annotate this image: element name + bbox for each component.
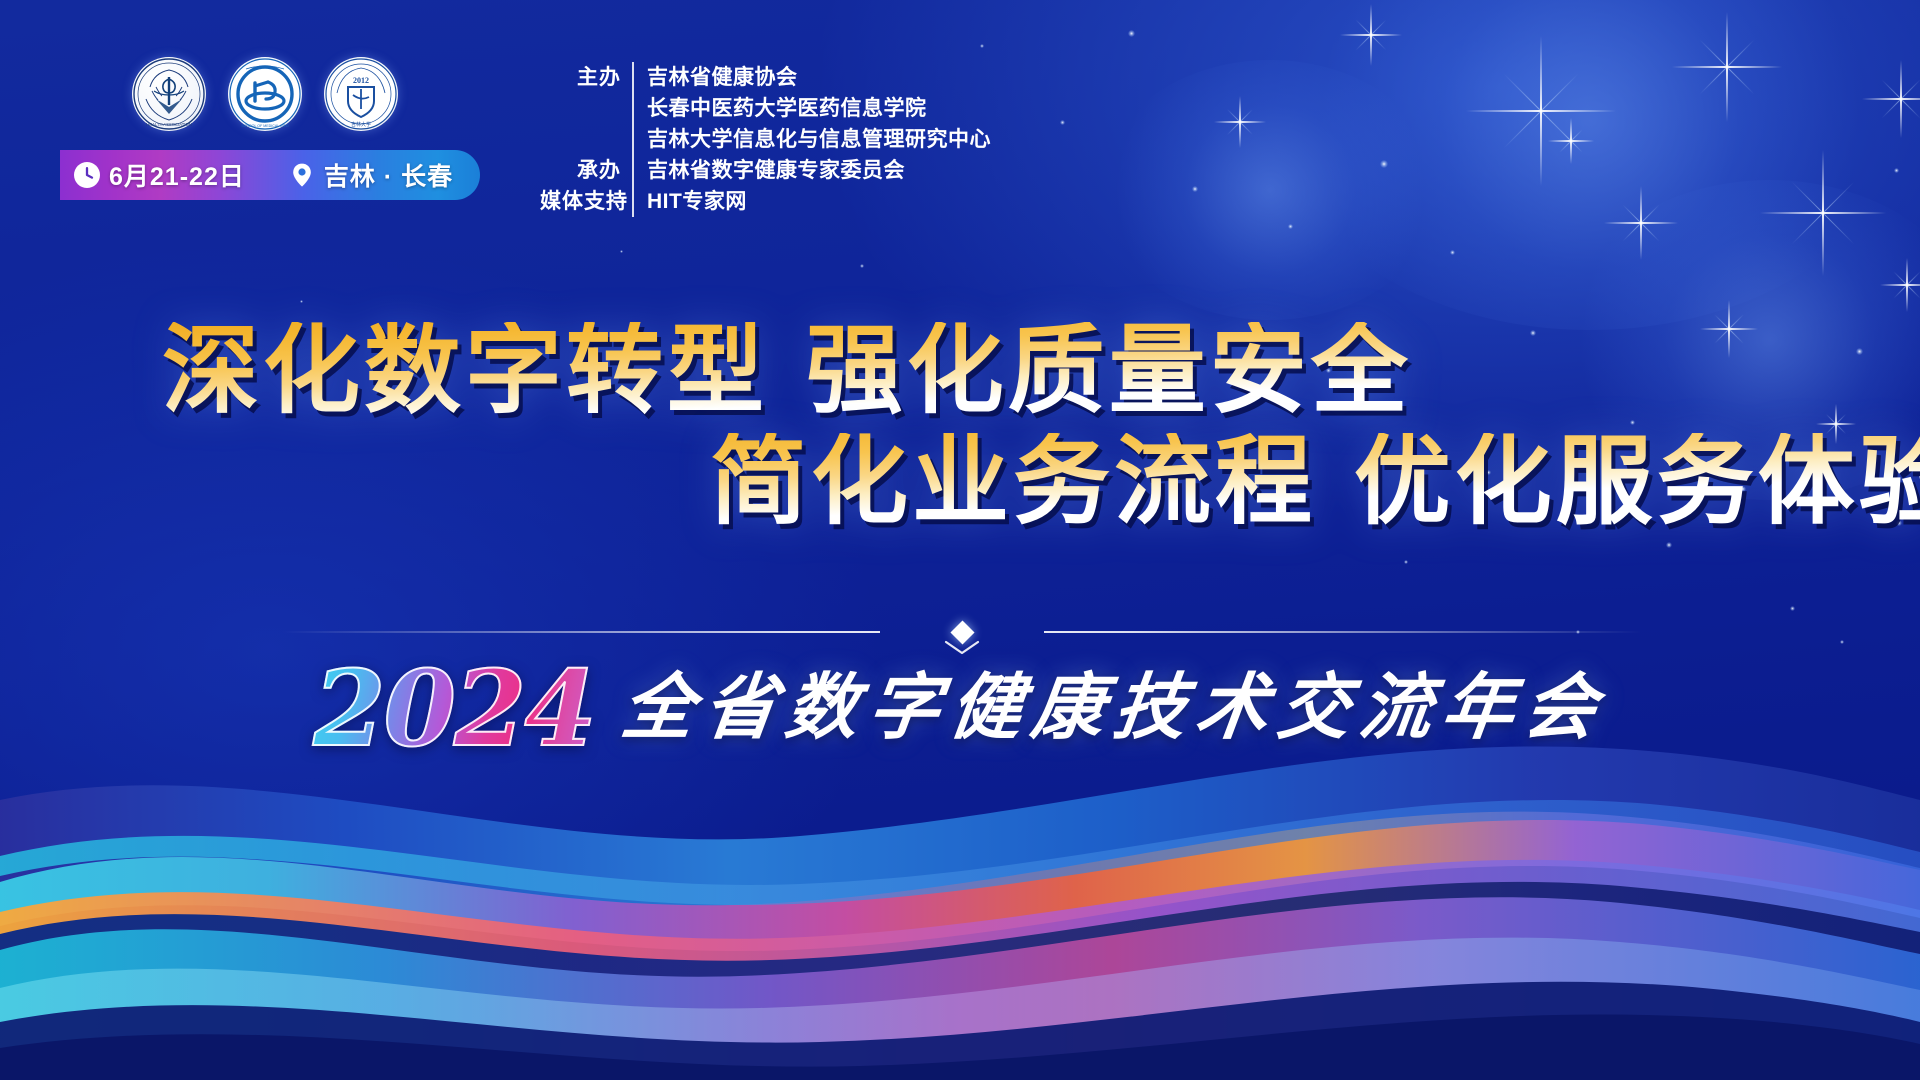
- sparkle-icon: [1604, 186, 1678, 260]
- organizer-values-media: HIT专家网: [632, 186, 747, 217]
- location-text: 吉林 · 长春: [324, 157, 453, 193]
- decorative-divider: [282, 618, 1642, 646]
- organizer-row-host: 主办 吉林省健康协会 长春中医药大学医药信息学院 吉林大学信息化与信息管理研究中…: [540, 62, 991, 155]
- sparkle-icon: [1340, 4, 1402, 66]
- sparkle-icon: [1672, 12, 1782, 122]
- organizer-row-media: 媒体支持 HIT专家网: [540, 186, 991, 217]
- date-location-pill: 6月21-22日 吉林 · 长春: [60, 150, 480, 200]
- changchun-university-cm-medical-information-emblem: SCHOOL OF MEDICAL INFO: [228, 57, 302, 131]
- date-segment: 6月21-22日: [74, 157, 245, 193]
- sparkle-icon: [1548, 118, 1594, 164]
- svg-text:2012: 2012: [353, 76, 369, 85]
- organizer-name: 长春中医药大学医药信息学院: [647, 93, 991, 124]
- sparkle-icon: [1862, 60, 1920, 138]
- svg-text:SCHOOL OF MEDICAL INFO: SCHOOL OF MEDICAL INFO: [241, 124, 289, 128]
- sparkle-icon: [1760, 150, 1886, 276]
- sparkle-icon: [1880, 258, 1920, 312]
- organizer-name: 吉林省数字健康专家委员会: [647, 155, 905, 186]
- organizer-name: HIT专家网: [647, 186, 747, 217]
- headline-line-1: 深化数字转型 强化质量安全: [0, 322, 1920, 419]
- organizer-values-coorganizer: 吉林省数字健康专家委员会: [632, 155, 905, 186]
- divider-line-right: [1044, 631, 1642, 633]
- organizer-label-host: 主办: [540, 62, 632, 93]
- date-text: 6月21-22日: [109, 157, 245, 193]
- jilin-university-informatization-center-emblem: 2012 吉林大学: [324, 57, 398, 131]
- organizer-label-media: 媒体支持: [540, 186, 632, 217]
- headline-line-2: 简化业务流程 优化服务体验: [0, 433, 1920, 530]
- svg-text:吉林大学: 吉林大学: [351, 121, 371, 128]
- organizer-name: 吉林省健康协会: [647, 62, 991, 93]
- organizer-label-coorganizer: 承办: [540, 155, 632, 186]
- organizer-credits: 主办 吉林省健康协会 长春中医药大学医药信息学院 吉林大学信息化与信息管理研究中…: [540, 62, 991, 217]
- conference-banner: HEALTH ASSOCIATION SCHOOL OF MEDICAL INF…: [0, 0, 1920, 1080]
- sparkle-icon: [1466, 36, 1616, 186]
- map-pin-icon: [289, 162, 315, 188]
- organizer-values-host: 吉林省健康协会 长春中医药大学医药信息学院 吉林大学信息化与信息管理研究中心: [632, 62, 991, 155]
- organizer-logo-row: HEALTH ASSOCIATION SCHOOL OF MEDICAL INF…: [132, 57, 398, 131]
- organizer-name: 吉林大学信息化与信息管理研究中心: [647, 124, 991, 155]
- divider-line-left: [282, 631, 880, 633]
- headline-block: 深化数字转型 强化质量安全 简化业务流程 优化服务体验: [0, 322, 1920, 530]
- sparkle-icon: [1214, 96, 1266, 148]
- wave-decoration: [0, 650, 1920, 1080]
- organizer-row-coorganizer: 承办 吉林省数字健康专家委员会: [540, 155, 991, 186]
- location-segment: 吉林 · 长春: [289, 157, 453, 193]
- jilin-health-association-emblem: HEALTH ASSOCIATION: [132, 57, 206, 131]
- svg-text:HEALTH ASSOCIATION: HEALTH ASSOCIATION: [146, 122, 191, 127]
- clock-icon: [74, 162, 100, 188]
